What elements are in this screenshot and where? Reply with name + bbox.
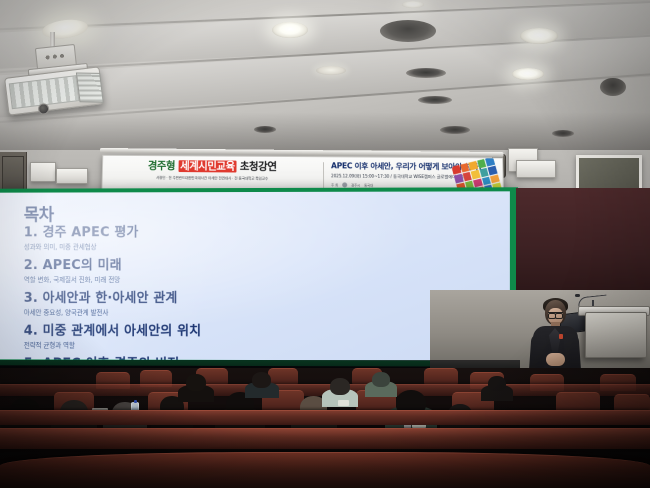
presenter-badge [559, 334, 563, 339]
banner-title: 경주형 세계시민교육 초청강연 [109, 160, 317, 174]
ceiling-vent-icon [600, 78, 626, 96]
audience-desk-row [0, 410, 650, 425]
slide-toc-heading: 4. 미중 관계에서 아세안의 위치 [24, 324, 443, 341]
banner-left-block: 경주형 세계시민교육 초청강연 서정민 · 전 주핀란드대한민국대사관 아세안 … [108, 160, 317, 182]
banner-host-label: 주 최 [331, 182, 338, 187]
ceiling-light [418, 96, 452, 104]
slide-toc-item: 2. APEC의 미래역할 변화, 국제질서 진화, 미래 전망 [24, 258, 443, 285]
ceiling-light [520, 28, 558, 44]
slide-toc-subtext: 아세안 중요성, 양국관계 발전사 [24, 309, 443, 318]
projector-vent [76, 73, 104, 103]
banner-title-prefix: 경주형 [148, 160, 178, 172]
lectern [585, 312, 647, 358]
ceiling-light [402, 1, 424, 8]
audience-person-head [488, 376, 506, 391]
slide-toc-heading: 2. APEC의 미래 [24, 258, 443, 274]
slide-toc-subtext: 전략적 균형과 역할 [24, 342, 443, 352]
slide-toc-item: 3. 아세안과 한·아세안 관계아세안 중요성, 양국관계 발전사 [24, 291, 443, 318]
slide-toc-heading: 1. 경주 APEC 평가 [24, 225, 443, 242]
lecture-hall-photo: 경주형 세계시민교육 초청강연 서정민 · 전 주핀란드대한민국대사관 아세안 … [0, 0, 650, 488]
banner-subtitle: 서정민 · 전 주핀란드대한민국대사관 아세안 전권대사 · 전 동국대학교 특… [108, 175, 317, 182]
banner-title-highlight: 세계시민교육 [178, 160, 237, 172]
audience-person-head [252, 372, 271, 388]
desk-paper [338, 400, 349, 406]
wall-shelf-left-2 [56, 168, 88, 184]
audience-desk-row [0, 428, 650, 449]
stage-right-wall [516, 188, 650, 298]
audience-person-head [186, 374, 206, 391]
ceiling-light [272, 22, 308, 38]
slide-toc-item: 4. 미중 관계에서 아세안의 위치전략적 균형과 역할 [24, 324, 443, 352]
glasses-icon [548, 312, 563, 317]
wall-shelf-left [30, 162, 56, 182]
audience-desk-row [0, 452, 650, 488]
host-logo-icon [342, 182, 347, 187]
ceiling-light [316, 66, 346, 75]
ceiling-vent-icon [380, 20, 436, 42]
slide-toc-heading: 3. 아세안과 한·아세안 관계 [24, 291, 443, 307]
slide-toc-subtext: 성과와 의미, 미중 관세협상 [24, 243, 443, 252]
audience-person-head [372, 372, 390, 387]
audience-chair-back [424, 368, 458, 384]
ceiling-light [512, 68, 544, 80]
wall-speaker-left [2, 156, 24, 192]
audience-person-head [330, 378, 350, 395]
audience-chair-back [268, 368, 298, 384]
ceiling-light [406, 68, 446, 78]
wall-shelf-right-2 [516, 160, 556, 178]
slide-toc-item: 1. 경주 APEC 평가성과와 의미, 미중 관세협상 [24, 225, 443, 252]
slide-toc-subtext: 역할 변화, 국제질서 진화, 미래 전망 [24, 276, 443, 285]
presenter-hands [546, 353, 565, 366]
slide-title: 목차 [24, 200, 54, 225]
slide-toc-list: 1. 경주 APEC 평가성과와 의미, 미중 관세협상2. APEC의 미래역… [24, 225, 443, 361]
banner-title-suffix: 초청강연 [237, 161, 277, 173]
